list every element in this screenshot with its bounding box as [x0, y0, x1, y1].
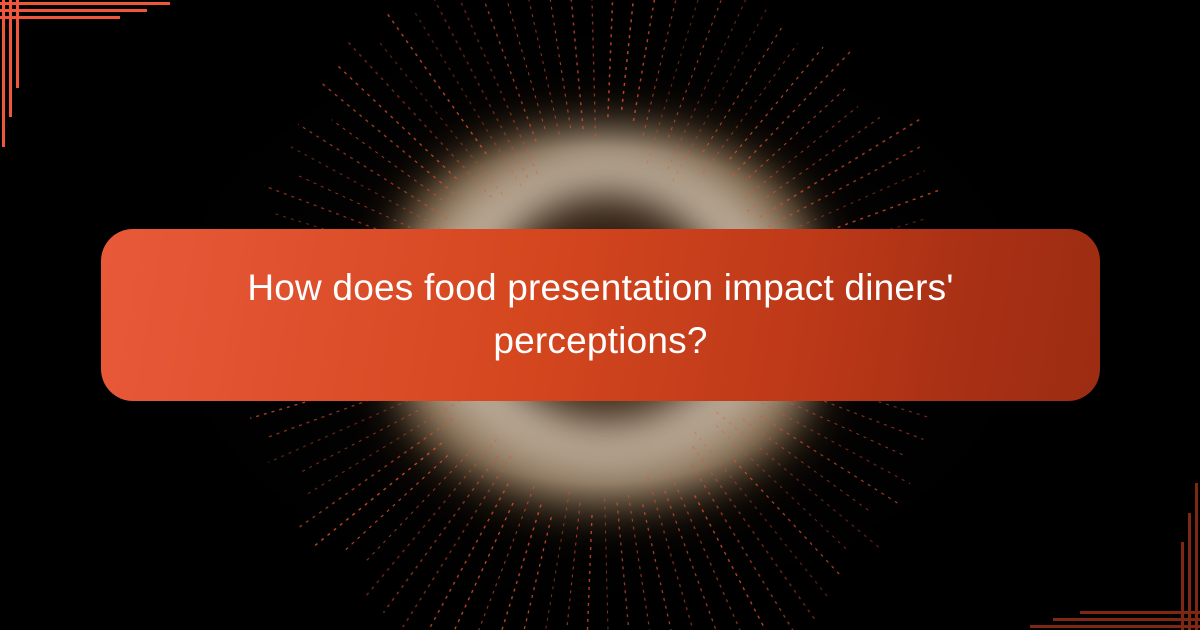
question-banner[interactable]: How does food presentation impact diners… — [101, 229, 1100, 401]
question-card-canvas: How does food presentation impact diners… — [0, 0, 1200, 630]
question-text: How does food presentation impact diners… — [171, 262, 1030, 368]
